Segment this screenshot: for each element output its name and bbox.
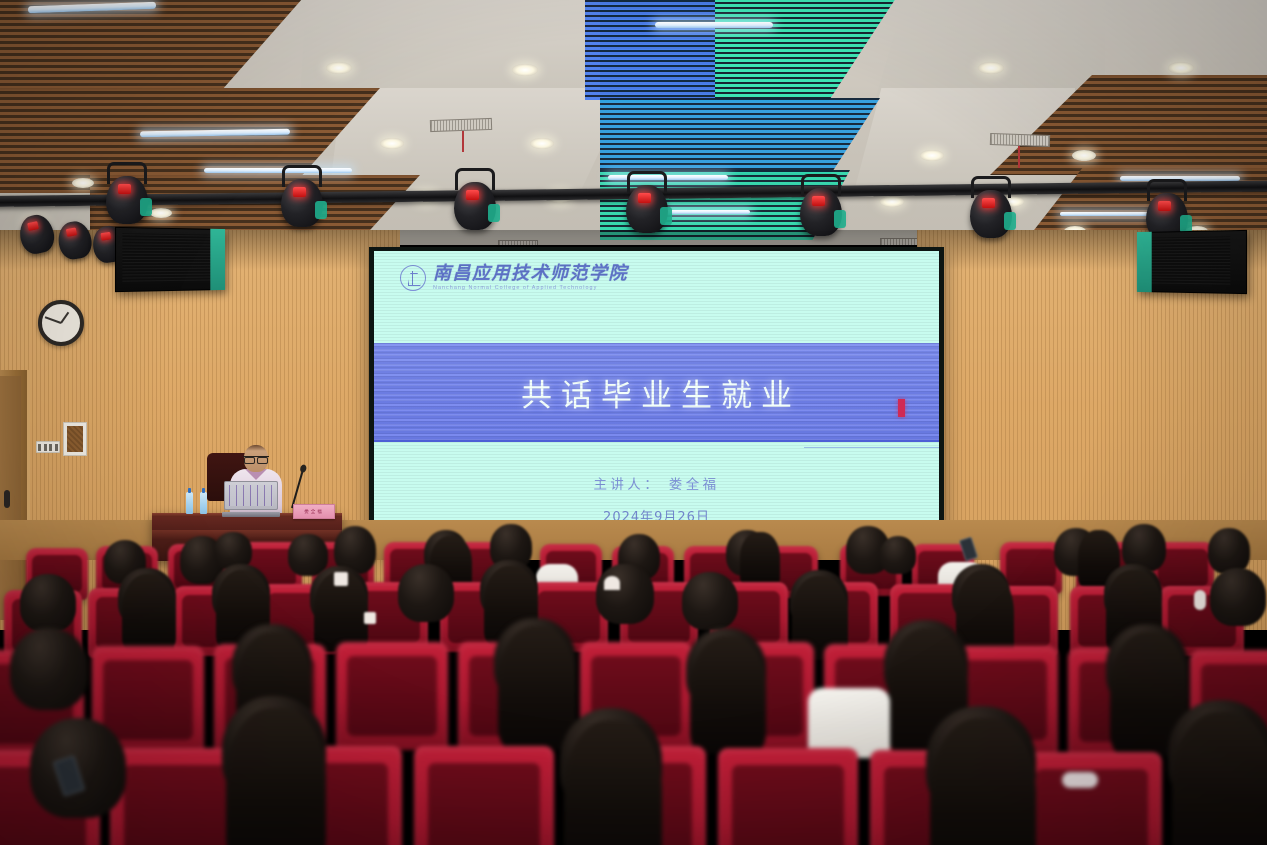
laptop — [222, 481, 280, 517]
stage-light-side-plate — [660, 207, 672, 225]
air-diffuser-grille — [430, 118, 492, 132]
audience-head — [20, 574, 76, 632]
acoustic-wall-panel — [63, 422, 87, 456]
ceiling-wood-slat-panel — [0, 0, 310, 95]
slide-title-band: 共话毕业生就业 — [374, 343, 939, 441]
institution-logo-text: 南昌应用技术师范学院 Nanchang Normal College of Ap… — [433, 265, 628, 291]
light-switch-panel[interactable] — [36, 441, 60, 453]
recessed-downlight — [978, 62, 1004, 74]
stage-light-fixture — [279, 175, 325, 233]
recessed-downlight — [920, 150, 944, 161]
stage-light-indicator-icon — [100, 232, 111, 241]
audience-hair — [1172, 712, 1267, 845]
stage-light-indicator-icon — [812, 196, 825, 206]
recessed-downlight — [1072, 150, 1096, 161]
stage-light-side-plate — [315, 201, 327, 219]
audience-head — [10, 628, 88, 710]
stage-light-body — [16, 212, 57, 257]
air-diffuser-grille — [990, 133, 1050, 147]
stage-light-side-plate — [834, 210, 846, 228]
audience-head — [880, 536, 916, 574]
institution-logo: 南昌应用技术师范学院 Nanchang Normal College of Ap… — [400, 265, 628, 291]
audience-hair — [564, 720, 662, 845]
presentation-slide: 南昌应用技术师范学院 Nanchang Normal College of Ap… — [374, 251, 939, 542]
audience-hair — [690, 636, 766, 754]
sprinkler-drop — [1018, 146, 1020, 168]
speaker-side-panel — [1137, 232, 1152, 292]
wall-clock-icon — [38, 300, 84, 346]
hair-clip — [364, 612, 376, 624]
institution-name-en: Nanchang Normal College of Applied Techn… — [433, 286, 628, 291]
recessed-downlight — [530, 138, 554, 149]
stage-light-fixture — [452, 178, 498, 236]
audience-hair — [498, 626, 576, 750]
hanging-pa-speaker — [1137, 230, 1247, 294]
stage-light-indicator-icon — [1158, 201, 1171, 211]
slide-accent-marker — [898, 399, 905, 417]
water-bottle — [200, 492, 207, 514]
audience-head — [1210, 568, 1266, 626]
hair-clip — [1194, 590, 1206, 610]
audience-head — [398, 564, 454, 622]
led-display-screen: 南昌应用技术师范学院 Nanchang Normal College of Ap… — [369, 247, 944, 547]
stage-light-indicator-icon — [293, 187, 306, 197]
institution-name-cn: 南昌应用技术师范学院 — [433, 265, 628, 283]
recessed-downlight — [512, 64, 538, 76]
recessed-downlight — [326, 62, 352, 74]
stage-light-indicator-icon — [118, 184, 131, 194]
nameplate: 娄全福 — [293, 504, 335, 519]
door-handle[interactable] — [4, 490, 10, 508]
auditorium-seat — [1022, 752, 1162, 845]
auditorium-seat — [718, 748, 858, 845]
speaker-grille — [1143, 237, 1231, 287]
audience-head — [682, 572, 738, 630]
stage-light-indicator-icon — [638, 193, 651, 203]
hair-clip-bow — [604, 576, 620, 590]
ceiling-plaster-panel — [875, 0, 1105, 100]
audience-hair — [122, 574, 176, 652]
water-bottle — [186, 492, 193, 514]
auditorium-seat — [414, 746, 554, 845]
laptop-base — [222, 512, 280, 517]
slide-speaker-line: 主讲人： 娄全福 — [374, 473, 939, 493]
audience-area — [0, 520, 1267, 845]
recessed-downlight — [150, 208, 172, 218]
audience-hair — [740, 532, 780, 588]
ceiling-plaster-panel — [300, 0, 620, 100]
audience-hair — [226, 708, 326, 845]
fluorescent-tube-light — [204, 168, 352, 173]
hair-clip — [1062, 772, 1098, 788]
stage-light-side-plate — [488, 204, 500, 222]
hair-clip — [334, 572, 348, 586]
recessed-downlight — [380, 138, 404, 149]
audience-head — [596, 564, 654, 624]
laptop-screen — [224, 481, 278, 510]
recessed-downlight — [72, 178, 94, 188]
university-seal-icon — [400, 265, 426, 291]
stage-light-side-plate — [140, 198, 152, 216]
fluorescent-tube-light — [608, 175, 728, 180]
stage-light-side-plate — [1004, 212, 1016, 230]
auditorium-seat — [336, 642, 448, 750]
stage-light-fixture — [968, 186, 1014, 244]
slide-title: 共话毕业生就业 — [374, 343, 939, 441]
fluorescent-tube-light — [655, 22, 773, 28]
glasses-icon — [243, 456, 269, 461]
speaker-side-panel — [210, 229, 225, 290]
slide-title-underline — [804, 447, 939, 448]
speaker-grille — [122, 233, 211, 284]
recessed-downlight — [880, 196, 904, 207]
stage-light-indicator-icon — [466, 190, 479, 200]
stage-light-fixture — [624, 181, 670, 239]
audience-head — [1208, 528, 1250, 574]
audience-hair — [930, 718, 1036, 845]
ceiling-led-slat-band — [600, 98, 880, 176]
stage-light-fixture — [798, 184, 844, 242]
sprinkler-drop — [462, 131, 464, 152]
ceiling-led-slat-band — [585, 0, 715, 100]
hanging-pa-speaker — [115, 227, 225, 292]
auditorium-photo: 南昌应用技术师范学院 Nanchang Normal College of Ap… — [0, 0, 1267, 845]
stage-light-indicator-icon — [982, 198, 995, 208]
stage-light-fixture — [104, 172, 150, 230]
recessed-downlight — [1168, 62, 1194, 74]
air-diffuser-grille — [498, 240, 538, 245]
